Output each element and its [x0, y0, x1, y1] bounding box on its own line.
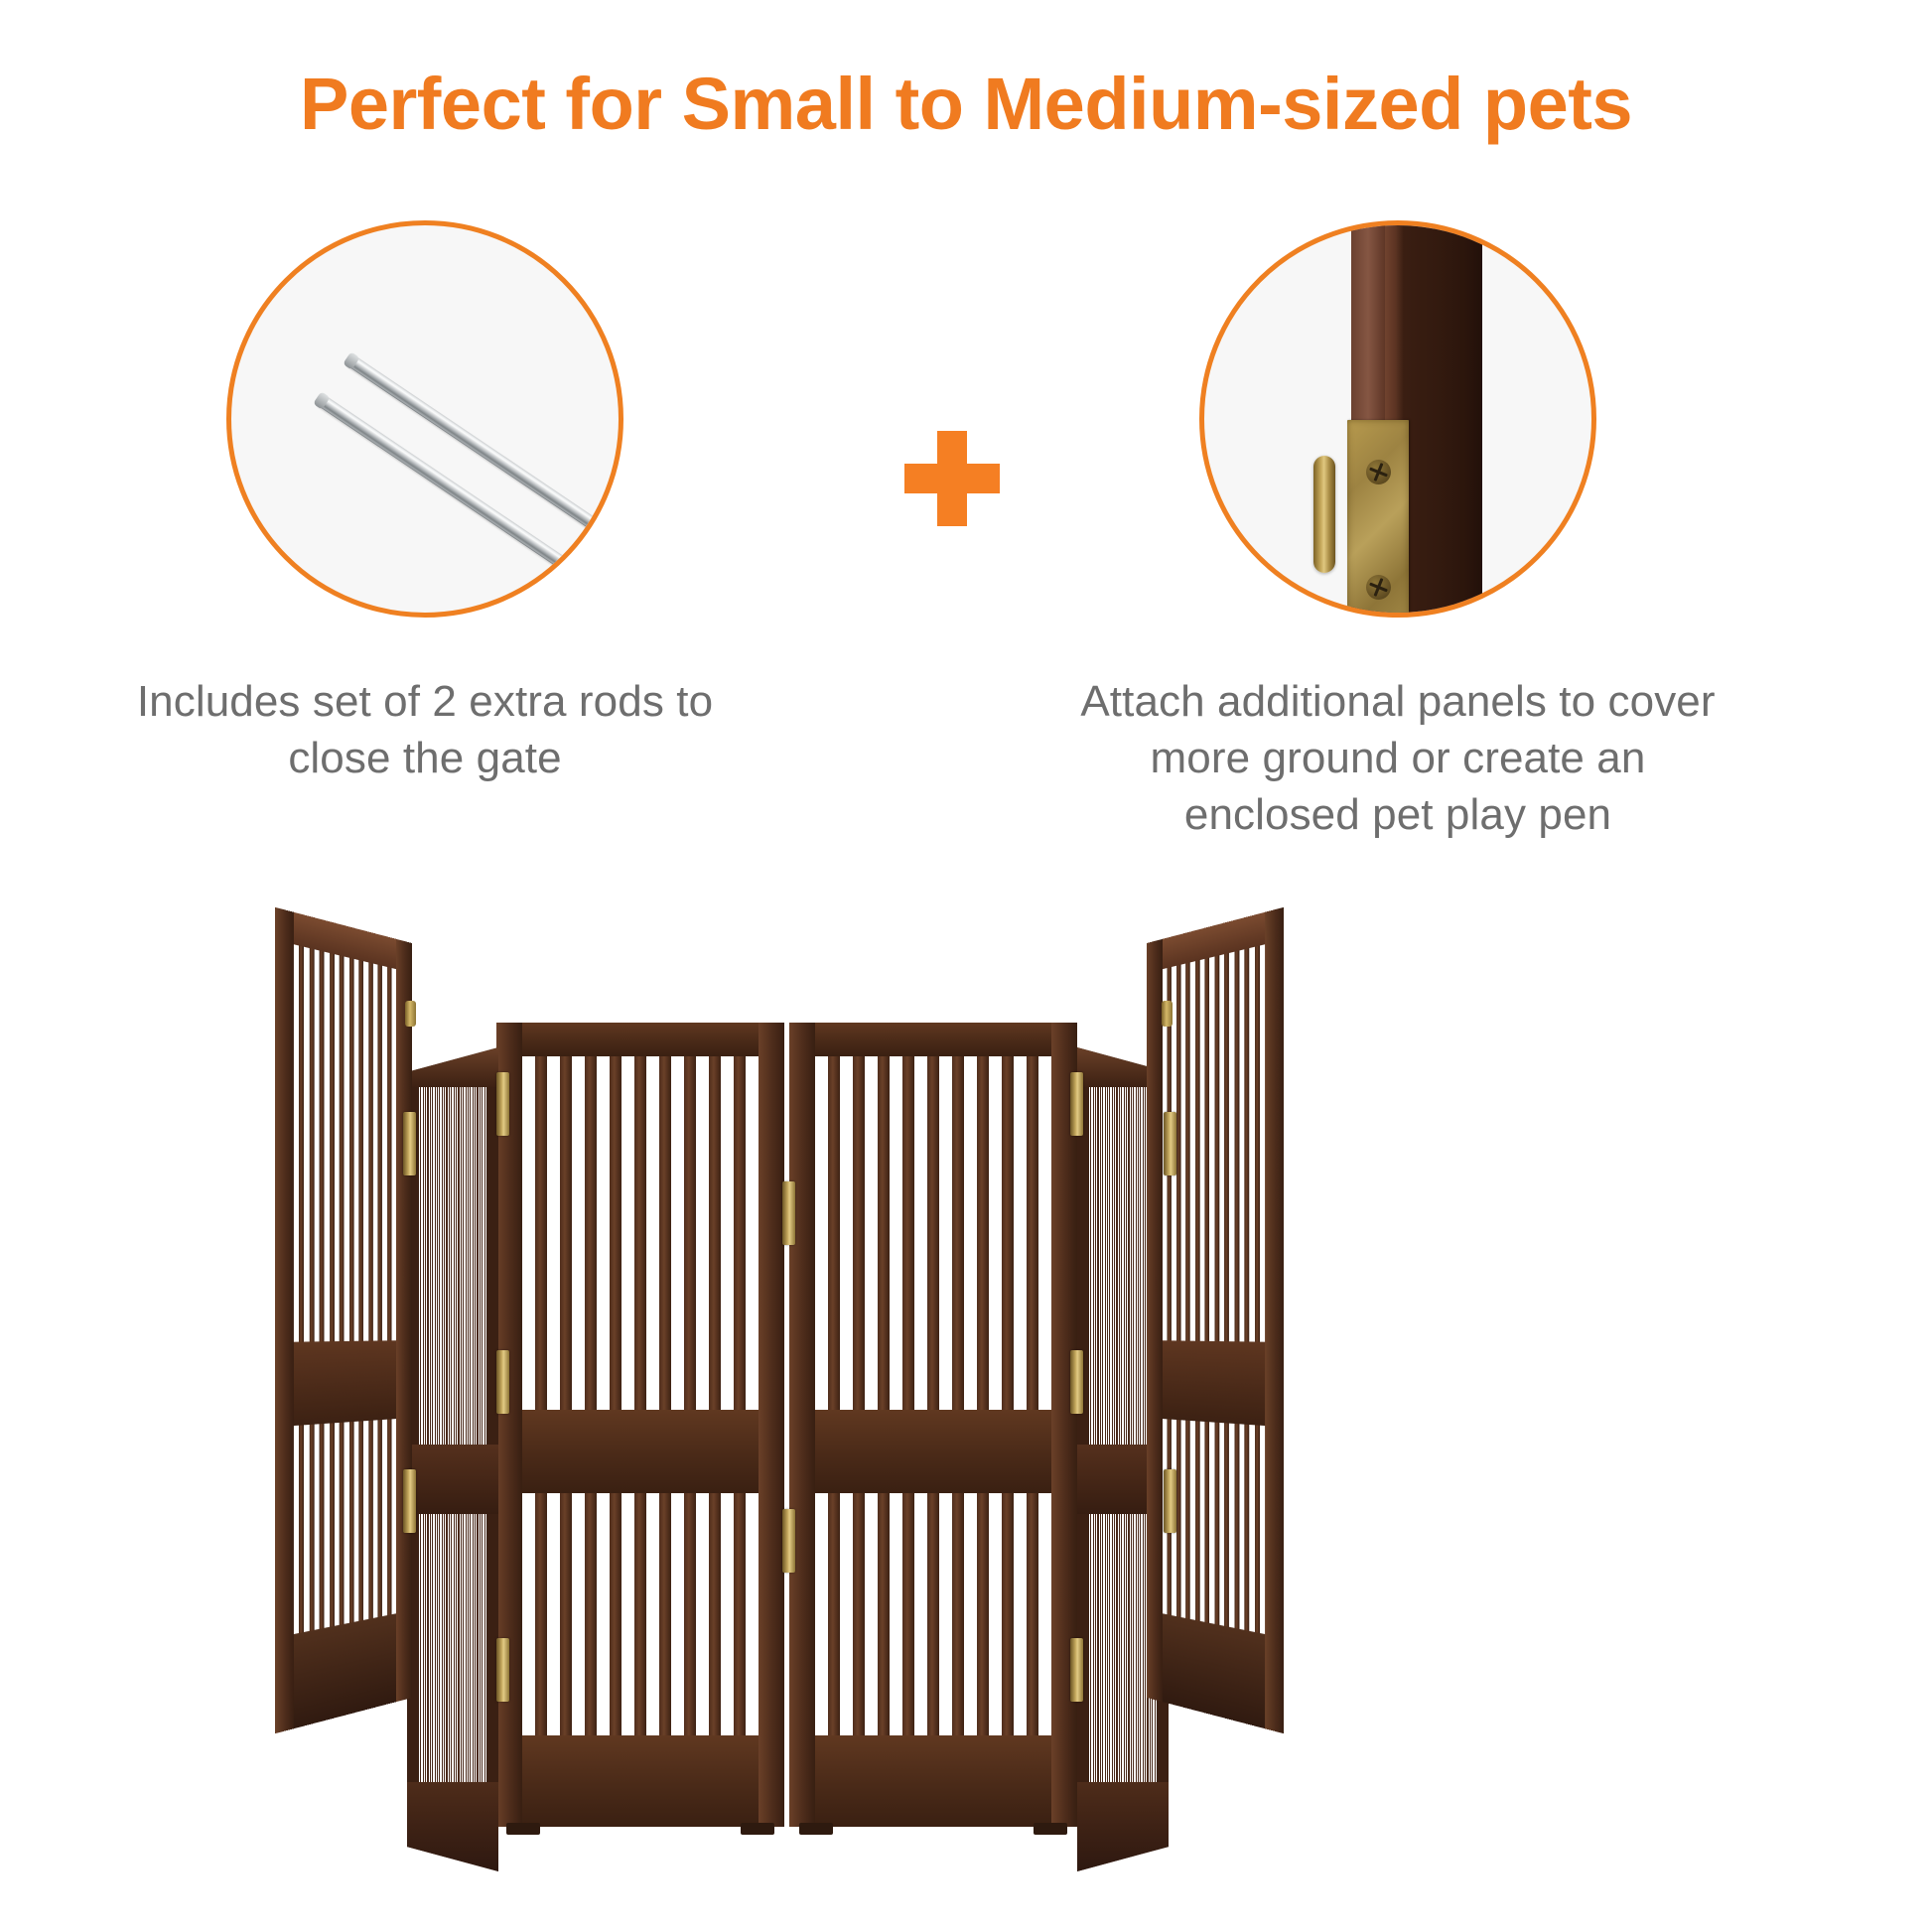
gate-slat	[1121, 1087, 1122, 1445]
gate-slat	[1114, 1514, 1115, 1782]
gate-slat	[1214, 955, 1219, 1341]
gate-mid-rail	[1147, 1340, 1284, 1427]
gate-slat	[1133, 1087, 1134, 1445]
gate-slat	[1140, 1087, 1141, 1445]
gate-slat	[634, 1493, 647, 1735]
gate-stile	[275, 907, 294, 1733]
brass-hinge-icon	[403, 1469, 416, 1533]
gate-slat	[470, 1514, 471, 1782]
gate-slat	[461, 1087, 462, 1445]
gate-slat	[456, 1514, 457, 1782]
gate-slat	[1116, 1087, 1117, 1445]
gate-slat	[734, 1056, 747, 1410]
gate-slat	[1234, 950, 1239, 1341]
gate-slat-window-lower	[522, 1493, 759, 1735]
gate-slat	[340, 1423, 345, 1625]
gate-slat-window-lower	[815, 1493, 1051, 1735]
gate-slat	[1126, 1514, 1127, 1782]
brass-hinge-icon	[496, 1350, 509, 1414]
pet-gate-illustration	[0, 953, 1932, 1932]
gate-slat	[1143, 1514, 1144, 1782]
gate-slat	[1100, 1087, 1101, 1445]
gate-slat	[309, 948, 314, 1341]
gate-slat	[451, 1514, 452, 1782]
gate-mid-rail	[789, 1410, 1077, 1493]
gate-slat	[952, 1493, 965, 1735]
gate-slat	[1138, 1514, 1139, 1782]
feature-additional-panels: Attach additional panels to cover more g…	[1021, 220, 1775, 844]
gate-slat	[1102, 1087, 1103, 1445]
gate-slat	[377, 1420, 382, 1617]
gate-slat	[473, 1087, 474, 1445]
brass-hinge-icon	[496, 1638, 509, 1702]
gate-slat	[927, 1056, 940, 1410]
gate-slat	[449, 1514, 450, 1782]
gate-slat	[330, 953, 335, 1341]
gate-panel-front-right	[789, 1023, 1077, 1827]
gate-slat	[420, 1087, 421, 1445]
gate-slat	[1100, 1514, 1101, 1782]
brass-hinge-icon	[1070, 1072, 1083, 1136]
gate-slat	[1119, 1087, 1120, 1445]
gate-slat	[442, 1087, 443, 1445]
gate-slat	[977, 1493, 990, 1735]
gate-slat	[423, 1087, 424, 1445]
gate-slat	[1107, 1514, 1108, 1782]
gate-bottom-rail	[1077, 1782, 1169, 1871]
gate-slat	[387, 967, 392, 1340]
gate-slat	[1027, 1493, 1039, 1735]
gate-panel-far-right	[1147, 907, 1284, 1733]
gate-slat-window-lower	[294, 1419, 396, 1634]
gate-slat	[358, 960, 363, 1341]
gate-slat	[1093, 1087, 1094, 1445]
gate-slat	[1136, 1514, 1137, 1782]
brass-hinge-icon	[1164, 1112, 1176, 1175]
gate-slat	[1138, 1087, 1139, 1445]
gate-slat	[610, 1493, 622, 1735]
gate-slat	[444, 1514, 445, 1782]
gate-slat-window-upper	[522, 1056, 759, 1410]
gate-slat	[1128, 1087, 1129, 1445]
gate-slat	[437, 1514, 438, 1782]
gate-stile	[496, 1023, 522, 1827]
gate-slat	[477, 1087, 478, 1445]
brass-hinge-icon	[1070, 1638, 1083, 1702]
brass-hinge-icon	[782, 1181, 795, 1245]
gate-slat	[309, 1425, 314, 1631]
gate-slat	[1116, 1514, 1117, 1782]
gate-slat	[1107, 1087, 1108, 1445]
gate-slat-window-upper	[419, 1087, 486, 1445]
gate-foot	[799, 1823, 833, 1835]
gate-slat	[1185, 1421, 1190, 1619]
gate-slat	[1195, 1421, 1200, 1621]
gate-slat	[535, 1056, 548, 1410]
gate-slat	[1131, 1087, 1132, 1445]
gate-slat	[1095, 1514, 1096, 1782]
gate-slat-window-lower	[1163, 1419, 1265, 1634]
gate-top-rail	[496, 1023, 784, 1056]
gate-slat	[482, 1514, 483, 1782]
brass-hinge-icon	[1164, 1469, 1176, 1533]
gate-bottom-rail	[407, 1782, 498, 1871]
gate-slat	[1095, 1087, 1096, 1445]
brass-hinge-icon	[1070, 1350, 1083, 1414]
gate-slat	[1124, 1514, 1125, 1782]
gate-stile	[1051, 1023, 1077, 1827]
gate-slat	[482, 1087, 483, 1445]
gate-panel-far-left	[275, 907, 412, 1733]
gate-slat	[878, 1056, 891, 1410]
gate-slat	[659, 1493, 672, 1735]
gate-slat	[1126, 1087, 1127, 1445]
gate-slat	[425, 1514, 426, 1782]
gate-slat	[427, 1514, 428, 1782]
gate-slat	[610, 1056, 622, 1410]
gate-slat-window-upper	[1163, 944, 1265, 1341]
brass-pin-icon	[405, 1001, 416, 1027]
gate-slat	[473, 1514, 474, 1782]
gate-slat	[878, 1493, 891, 1735]
gate-slat	[442, 1514, 443, 1782]
plus-bar-vertical	[937, 431, 967, 526]
gate-slat	[1105, 1514, 1106, 1782]
gate-slat	[853, 1493, 866, 1735]
gate-slat	[454, 1514, 455, 1782]
gate-slat	[449, 1087, 450, 1445]
gate-slat	[1090, 1087, 1091, 1445]
gate-slat	[427, 1087, 428, 1445]
brass-hinge-pin-icon	[1313, 456, 1335, 573]
gate-slat	[1244, 1425, 1249, 1631]
gate-slat	[535, 1493, 548, 1735]
gate-slat	[560, 1493, 573, 1735]
gate-slat	[439, 1514, 440, 1782]
gate-slat	[349, 958, 354, 1341]
gate-slat	[1204, 958, 1209, 1341]
gate-slat	[902, 1056, 915, 1410]
gate-slat	[463, 1514, 464, 1782]
gate-slat	[468, 1514, 469, 1782]
gate-panel-front-left	[496, 1023, 784, 1827]
gate-slat	[1124, 1087, 1125, 1445]
gate-slat	[902, 1493, 915, 1735]
gate-slat	[634, 1056, 647, 1410]
gate-stile	[789, 1023, 815, 1827]
gate-slat	[1027, 1056, 1039, 1410]
gate-slat	[1234, 1424, 1239, 1629]
gate-slat	[585, 1056, 598, 1410]
gate-slat	[1195, 960, 1200, 1341]
gate-slat	[828, 1493, 841, 1735]
gate-slat	[446, 1514, 447, 1782]
rods-image-bubble	[226, 220, 623, 618]
gate-slat	[340, 955, 345, 1341]
gate-slat	[484, 1514, 485, 1782]
feature-extra-rods: Includes set of 2 extra rods to close th…	[48, 220, 802, 786]
gate-slat	[425, 1087, 426, 1445]
gate-slat	[1131, 1514, 1132, 1782]
gate-stile	[759, 1023, 784, 1827]
gate-slat	[709, 1493, 722, 1735]
gate-slat	[430, 1514, 431, 1782]
gate-slat	[358, 1421, 363, 1621]
gate-slat	[1090, 1514, 1091, 1782]
gate-slat	[468, 1087, 469, 1445]
gate-slat	[461, 1514, 462, 1782]
gate-slat	[1109, 1087, 1110, 1445]
gate-slat	[435, 1087, 436, 1445]
gate-slat	[659, 1056, 672, 1410]
gate-slat	[927, 1493, 940, 1735]
gate-slat	[477, 1514, 478, 1782]
gate-slat	[1185, 962, 1190, 1340]
gate-slat	[1255, 1425, 1260, 1633]
gate-slat	[977, 1056, 990, 1410]
gate-mid-rail	[275, 1340, 412, 1427]
gate-slat	[466, 1087, 467, 1445]
gate-mid-rail	[407, 1445, 498, 1514]
gate-slat	[475, 1514, 476, 1782]
gate-slat	[430, 1087, 431, 1445]
gate-slat	[349, 1422, 354, 1623]
gate-slat	[1214, 1423, 1219, 1625]
gate-bottom-rail	[496, 1735, 784, 1827]
gate-slat	[377, 965, 382, 1341]
gate-slat	[320, 950, 325, 1341]
gate-slat	[828, 1056, 841, 1410]
gate-slat	[1002, 1056, 1015, 1410]
feature-caption-rods: Includes set of 2 extra rods to close th…	[48, 673, 802, 786]
gate-slat	[466, 1514, 467, 1782]
plus-icon	[904, 431, 1000, 526]
gate-slat	[1102, 1514, 1103, 1782]
gate-slat	[1121, 1514, 1122, 1782]
gate-slat	[1224, 1423, 1229, 1626]
gate-slat	[463, 1087, 464, 1445]
infographic-page: Perfect for Small to Medium-sized pets I…	[0, 0, 1932, 1932]
gate-slat-window-upper	[815, 1056, 1051, 1410]
gate-slat	[1109, 1514, 1110, 1782]
gate-slat	[435, 1514, 436, 1782]
gate-slat	[480, 1087, 481, 1445]
gate-slat	[1097, 1087, 1098, 1445]
hinge-image-bubble	[1199, 220, 1596, 618]
gate-slat	[1244, 948, 1249, 1341]
feature-caption-panels: Attach additional panels to cover more g…	[1021, 673, 1775, 844]
gate-slat	[387, 1419, 392, 1615]
gate-slat	[1143, 1087, 1144, 1445]
brass-hinge-icon	[403, 1112, 416, 1175]
gate-slat	[439, 1087, 440, 1445]
brass-pin-icon	[1162, 1001, 1173, 1027]
gate-slat	[423, 1514, 424, 1782]
gate-stile	[396, 939, 412, 1702]
gate-slat	[709, 1056, 722, 1410]
page-title: Perfect for Small to Medium-sized pets	[0, 62, 1932, 146]
gate-slat	[368, 962, 373, 1340]
gate-slat	[560, 1056, 573, 1410]
gate-top-rail	[789, 1023, 1077, 1056]
gate-slat	[952, 1056, 965, 1410]
gate-slat	[454, 1087, 455, 1445]
gate-slat	[1140, 1514, 1141, 1782]
feature-row: Includes set of 2 extra rods to close th…	[0, 220, 1932, 915]
gate-mid-rail	[496, 1410, 784, 1493]
gate-slat	[1136, 1087, 1137, 1445]
brass-hinge-icon	[496, 1072, 509, 1136]
gate-foot	[741, 1823, 774, 1835]
gate-slat	[480, 1514, 481, 1782]
gate-stile	[1147, 939, 1163, 1702]
gate-slat	[1002, 1493, 1015, 1735]
gate-slat	[451, 1087, 452, 1445]
gate-bottom-rail	[789, 1735, 1077, 1827]
gate-slat	[432, 1087, 433, 1445]
gate-slat	[470, 1087, 471, 1445]
gate-slat-window-lower	[419, 1514, 486, 1782]
gate-slat	[446, 1087, 447, 1445]
gate-slat	[1176, 1420, 1181, 1617]
gate-slat	[456, 1087, 457, 1445]
gate-top-rail	[407, 1047, 498, 1087]
gate-slat	[585, 1493, 598, 1735]
gate-slat	[299, 1425, 304, 1633]
gate-slat	[475, 1087, 476, 1445]
gate-slat	[330, 1423, 335, 1626]
brass-hinge-icon	[782, 1509, 795, 1573]
gate-slat	[1112, 1087, 1113, 1445]
gate-slat	[1112, 1514, 1113, 1782]
gate-slat	[1128, 1514, 1129, 1782]
gate-slat	[1204, 1422, 1209, 1623]
screw-icon	[1366, 460, 1391, 484]
gate-stile	[1265, 907, 1284, 1733]
gate-slat	[1255, 946, 1260, 1342]
screw-icon	[1366, 575, 1391, 600]
gate-slat	[1093, 1514, 1094, 1782]
gate-slat	[320, 1424, 325, 1629]
gate-slat	[458, 1514, 459, 1782]
gate-slat	[299, 946, 304, 1342]
gate-slat	[1114, 1087, 1115, 1445]
gate-slat	[1224, 953, 1229, 1341]
gate-slat	[420, 1514, 421, 1782]
gate-slat	[1105, 1087, 1106, 1445]
gate-slat	[437, 1087, 438, 1445]
gate-foot	[506, 1823, 540, 1835]
gate-slat	[484, 1087, 485, 1445]
gate-slat	[432, 1514, 433, 1782]
gate-slat	[734, 1493, 747, 1735]
gate-slat	[368, 1421, 373, 1619]
gate-slat	[1119, 1514, 1120, 1782]
gate-panel-left-angled	[407, 1047, 498, 1871]
gate-slat	[1097, 1514, 1098, 1782]
gate-slat	[684, 1056, 697, 1410]
gate-slat	[458, 1087, 459, 1445]
gate-slat	[444, 1087, 445, 1445]
gate-slat	[1133, 1514, 1134, 1782]
product-photo	[0, 953, 1932, 1932]
gate-slat-window-upper	[294, 944, 396, 1341]
gate-foot	[1034, 1823, 1067, 1835]
gate-slat	[684, 1493, 697, 1735]
gate-slat	[1176, 965, 1181, 1341]
gate-slat	[853, 1056, 866, 1410]
